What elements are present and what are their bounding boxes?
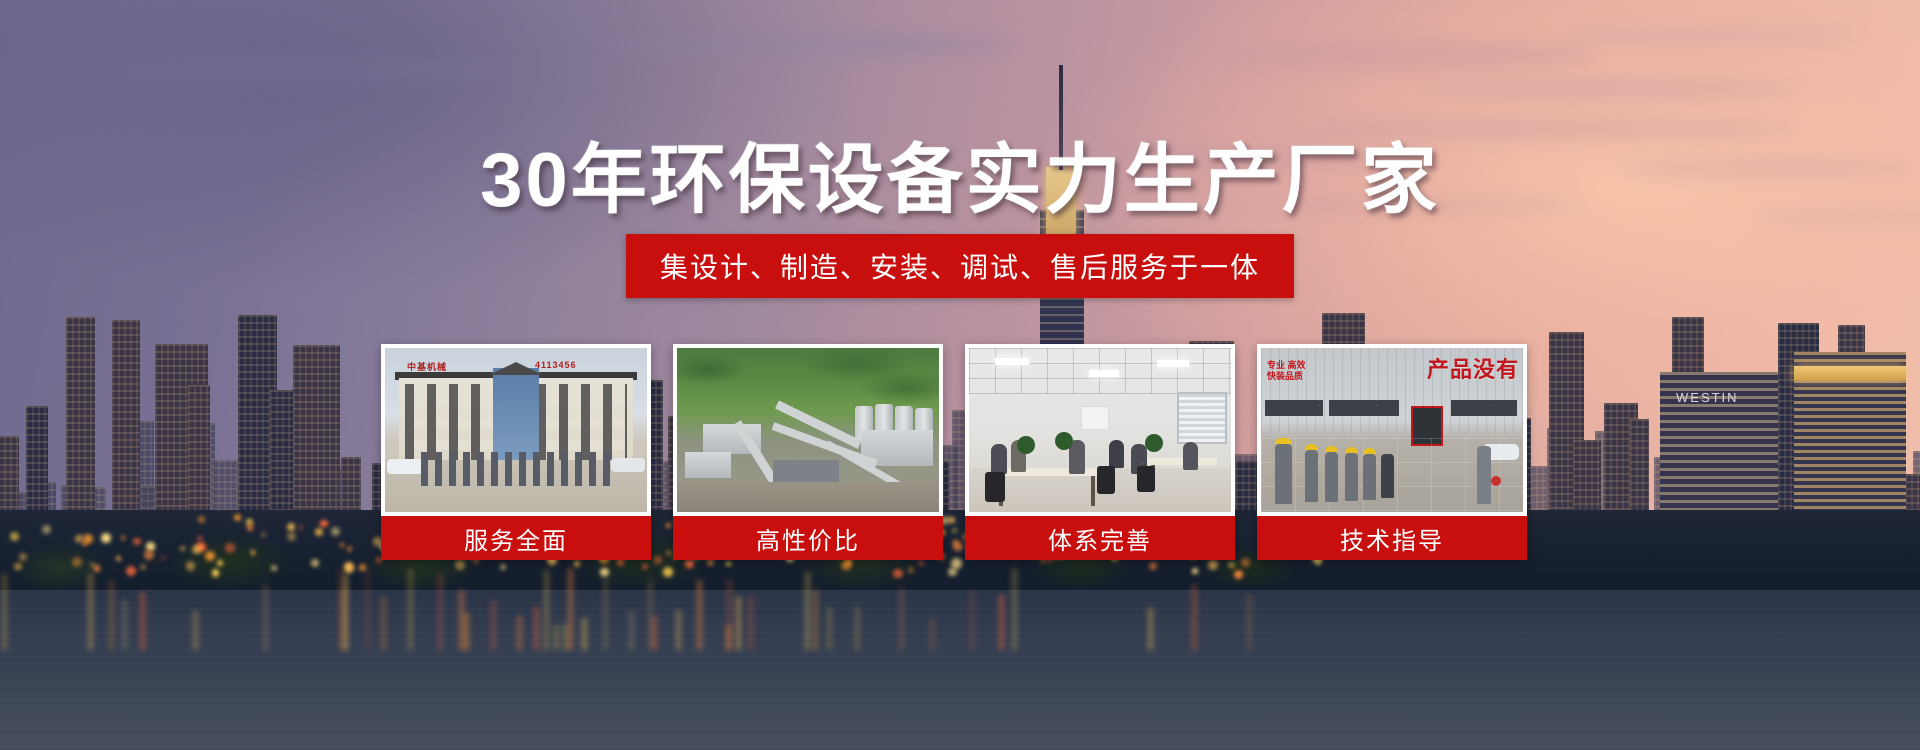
westin-sign-label: WESTIN	[1676, 390, 1739, 405]
hero-banner: WESTIN 30年环保设备实力生产厂家 集设计、制造、安装、调试、售后服务于一…	[0, 0, 1920, 750]
plaza-tower-crown-light	[1794, 366, 1906, 380]
feature-card[interactable]: 体系完善	[965, 344, 1235, 560]
subtitle-bar: 集设计、制造、安装、调试、售后服务于一体	[626, 234, 1294, 298]
feature-card[interactable]: 中基机械 4113456 服务全面	[381, 344, 651, 560]
feature-card[interactable]: 产品没有 专业 高效快装品质	[1257, 344, 1527, 560]
building-phone-text: 4113456	[535, 360, 577, 370]
river-water	[0, 590, 1920, 750]
card-photo-headquarters: 中基机械 4113456	[385, 348, 647, 512]
page-title: 30年环保设备实力生产厂家	[0, 118, 1920, 228]
building-sign-text: 中基机械	[407, 360, 447, 373]
card-caption: 服务全面	[381, 516, 651, 560]
feature-card[interactable]: 高性价比	[673, 344, 943, 560]
factory-sign-text: 产品没有	[1427, 352, 1519, 384]
card-photo-plant-aerial	[677, 348, 939, 512]
factory-sign-slogan: 专业 高效快装品质	[1267, 360, 1306, 382]
card-caption: 体系完善	[965, 516, 1235, 560]
feature-card-row: 中基机械 4113456 服务全面	[381, 344, 1527, 560]
card-caption: 高性价比	[673, 516, 943, 560]
card-photo-workshop-workers: 产品没有 专业 高效快装品质	[1261, 348, 1523, 512]
card-caption: 技术指导	[1257, 516, 1527, 560]
card-photo-office-interior	[969, 348, 1231, 512]
